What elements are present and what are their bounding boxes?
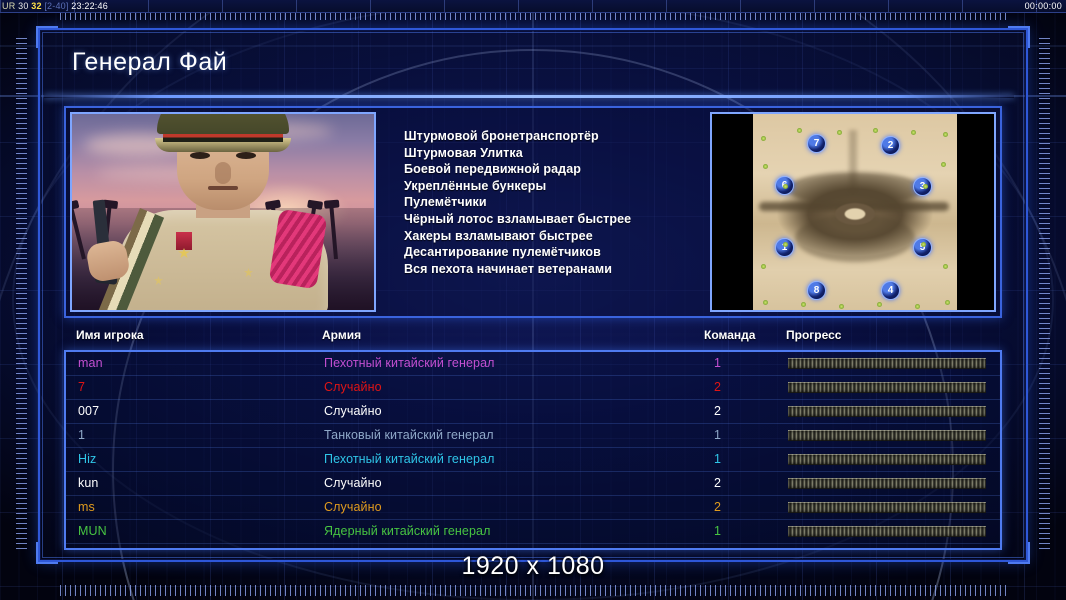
topbar-tick-marks xyxy=(0,0,1066,12)
table-row[interactable]: kunСлучайно2 xyxy=(66,472,1000,496)
top-status-bar: UR 30 32 [2-40] 23:22:46 00:00:00 xyxy=(0,0,1066,13)
portrait-nose xyxy=(215,162,231,184)
map-resource-node xyxy=(797,128,802,133)
portrait-button-star xyxy=(244,268,253,277)
ability-item: Десантирование пулемётчиков xyxy=(404,244,710,261)
player-army: Танковый китайский генерал xyxy=(324,428,494,442)
player-team: 2 xyxy=(714,380,721,394)
map-resource-node xyxy=(941,162,946,167)
portrait-mouth xyxy=(208,186,238,190)
portrait-cap xyxy=(157,112,289,134)
fps-range: [2-40] xyxy=(44,1,68,11)
map-resource-node xyxy=(921,242,926,247)
column-header-team: Команда xyxy=(704,328,755,342)
map-preview[interactable]: 72631584 xyxy=(710,112,996,312)
player-army: Пехотный китайский генерал xyxy=(324,356,495,370)
general-info-panel: Штурмовой бронетранспортёр Штурмовая Ули… xyxy=(64,106,1002,318)
player-name: ms xyxy=(78,500,95,514)
player-progress-bar xyxy=(788,502,986,513)
map-spawn-point-4[interactable]: 4 xyxy=(881,281,900,300)
column-header-progress: Прогресс xyxy=(786,328,841,342)
map-resource-node xyxy=(923,184,928,189)
player-table: manПехотный китайский генерал17Случайно2… xyxy=(64,350,1002,550)
map-spawn-point-7[interactable]: 7 xyxy=(807,134,826,153)
map-resource-node xyxy=(761,264,766,269)
map-center-feature xyxy=(835,203,875,225)
player-team: 2 xyxy=(714,404,721,418)
player-team: 1 xyxy=(714,356,721,370)
portrait-epaulette xyxy=(269,209,328,290)
ruler-rail-left xyxy=(16,38,27,552)
player-name: man xyxy=(78,356,103,370)
map-resource-node xyxy=(943,132,948,137)
map-spawn-point-2[interactable]: 2 xyxy=(881,136,900,155)
map-resource-node xyxy=(911,130,916,135)
player-name: Hiz xyxy=(78,452,96,466)
ability-item: Штурмовой бронетранспортёр xyxy=(404,128,710,145)
table-row[interactable]: manПехотный китайский генерал1 xyxy=(66,352,1000,376)
corner-bracket-top-left xyxy=(36,26,58,48)
player-team: 1 xyxy=(714,452,721,466)
fps-value: 30 xyxy=(18,1,28,11)
map-resource-node xyxy=(763,300,768,305)
map-resource-node xyxy=(943,264,948,269)
player-progress-bar xyxy=(788,430,986,441)
page-title: Генерал Фай xyxy=(58,40,1008,84)
table-row[interactable]: MUNЯдерный китайский генерал1 xyxy=(66,520,1000,544)
system-clock: 23:22:46 xyxy=(71,1,108,11)
ability-item: Пулемётчики xyxy=(404,194,710,211)
map-resource-node xyxy=(783,242,788,247)
table-row[interactable]: 7Случайно2 xyxy=(66,376,1000,400)
portrait-medal xyxy=(176,232,192,250)
player-progress-bar xyxy=(788,478,986,489)
map-resource-node xyxy=(839,304,844,309)
title-bar: Генерал Фай xyxy=(58,40,1008,96)
map-spawn-point-5[interactable]: 5 xyxy=(913,238,932,257)
player-team: 2 xyxy=(714,500,721,514)
map-spawn-point-1[interactable]: 1 xyxy=(775,238,794,257)
player-name: 7 xyxy=(78,380,85,394)
player-progress-bar xyxy=(788,358,986,369)
ability-item: Чёрный лотос взламывает быстрее xyxy=(404,211,710,228)
player-team: 1 xyxy=(714,428,721,442)
table-row[interactable]: HizПехотный китайский генерал1 xyxy=(66,448,1000,472)
general-abilities-list: Штурмовой бронетранспортёр Штурмовая Ули… xyxy=(376,112,710,312)
column-header-army: Армия xyxy=(322,328,361,342)
player-table-header: Имя игрока Армия Команда Прогресс xyxy=(64,328,1002,350)
general-portrait xyxy=(70,112,376,312)
match-timer: 00:00:00 xyxy=(1025,0,1062,13)
lobby-panel: Генерал Фай xyxy=(38,28,1028,562)
corner-bracket-top-right xyxy=(1008,26,1030,48)
map-resource-node xyxy=(945,300,950,305)
ruler-rail-right xyxy=(1039,38,1050,552)
ability-item: Боевой передвижной радар xyxy=(404,161,710,178)
resolution-overlay: 1920 x 1080 xyxy=(0,552,1066,581)
portrait-uniform xyxy=(118,210,328,312)
map-road xyxy=(849,130,857,192)
fps-value-alt: 32 xyxy=(31,1,41,11)
player-army: Случайно xyxy=(324,500,382,514)
player-name: 007 xyxy=(78,404,99,418)
title-underline xyxy=(44,95,1014,98)
map-resource-node xyxy=(873,128,878,133)
player-progress-bar xyxy=(788,382,986,393)
player-progress-bar xyxy=(788,526,986,537)
column-header-name: Имя игрока xyxy=(76,328,144,342)
portrait-eye xyxy=(236,152,256,159)
map-terrain: 72631584 xyxy=(753,114,957,312)
fps-label: UR xyxy=(2,1,15,11)
map-resource-node xyxy=(801,302,806,307)
player-army: Случайно xyxy=(324,476,382,490)
map-resource-node xyxy=(783,184,788,189)
portrait-button-star xyxy=(154,276,163,285)
player-army: Случайно xyxy=(324,404,382,418)
table-row[interactable]: 1Танковый китайский генерал1 xyxy=(66,424,1000,448)
player-progress-bar xyxy=(788,454,986,465)
map-resource-node xyxy=(761,136,766,141)
player-army: Случайно xyxy=(324,380,382,394)
player-name: 1 xyxy=(78,428,85,442)
ability-item: Штурмовая Улитка xyxy=(404,145,710,162)
player-army: Пехотный китайский генерал xyxy=(324,452,495,466)
map-resource-node xyxy=(877,302,882,307)
ability-item: Хакеры взламывают быстрее xyxy=(404,228,710,245)
table-row[interactable]: msСлучайно2 xyxy=(66,496,1000,520)
table-row[interactable]: 007Случайно2 xyxy=(66,400,1000,424)
map-resource-node xyxy=(763,164,768,169)
map-resource-node xyxy=(837,130,842,135)
player-army: Ядерный китайский генерал xyxy=(324,524,490,538)
map-spawn-point-8[interactable]: 8 xyxy=(807,281,826,300)
map-resource-node xyxy=(915,304,920,309)
player-progress-bar xyxy=(788,406,986,417)
player-team: 1 xyxy=(714,524,721,538)
ability-item: Вся пехота начинает ветеранами xyxy=(404,261,710,278)
ability-item: Укреплённые бункеры xyxy=(404,178,710,195)
player-name: MUN xyxy=(78,524,107,538)
player-team: 2 xyxy=(714,476,721,490)
player-name: kun xyxy=(78,476,98,490)
ruler-rail-bottom xyxy=(60,585,1006,596)
fps-counter: UR 30 32 [2-40] 23:22:46 xyxy=(2,0,108,13)
portrait-eye xyxy=(190,152,210,159)
